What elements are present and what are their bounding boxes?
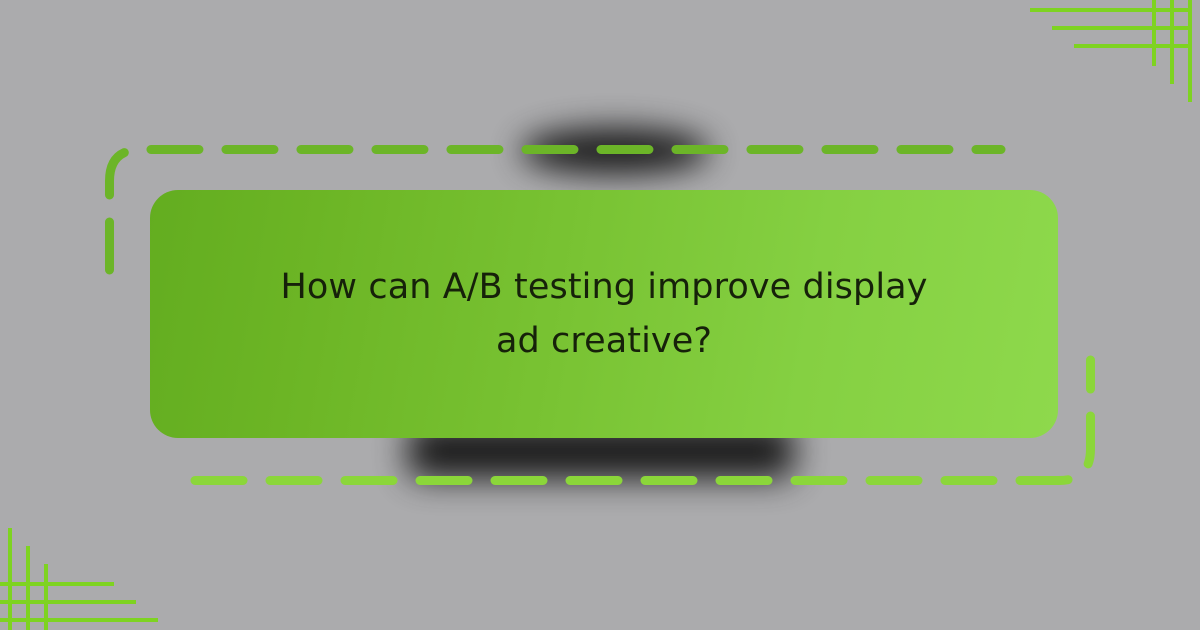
corner-line-vertical-1 xyxy=(1188,0,1192,102)
question-text: How can A/B testing improve display ad c… xyxy=(254,260,954,369)
corner-line-vertical-2 xyxy=(1170,0,1174,84)
corner-line-vertical-3 xyxy=(1152,0,1156,66)
corner-line-horizontal-3 xyxy=(0,582,114,586)
poster-canvas: How can A/B testing improve display ad c… xyxy=(0,0,1200,630)
corner-decoration-bottom-left xyxy=(0,520,170,630)
corner-line-horizontal-3 xyxy=(1074,44,1188,48)
corner-line-vertical-2 xyxy=(26,546,30,630)
corner-line-vertical-3 xyxy=(44,564,48,630)
corner-decoration-top-right xyxy=(1030,0,1200,110)
card-shadow-top xyxy=(520,128,710,174)
corner-line-horizontal-1 xyxy=(1030,8,1188,12)
corner-line-horizontal-2 xyxy=(0,600,136,604)
question-card: How can A/B testing improve display ad c… xyxy=(150,190,1058,438)
corner-line-horizontal-1 xyxy=(0,618,158,622)
corner-line-vertical-1 xyxy=(8,528,12,630)
corner-line-horizontal-2 xyxy=(1052,26,1188,30)
